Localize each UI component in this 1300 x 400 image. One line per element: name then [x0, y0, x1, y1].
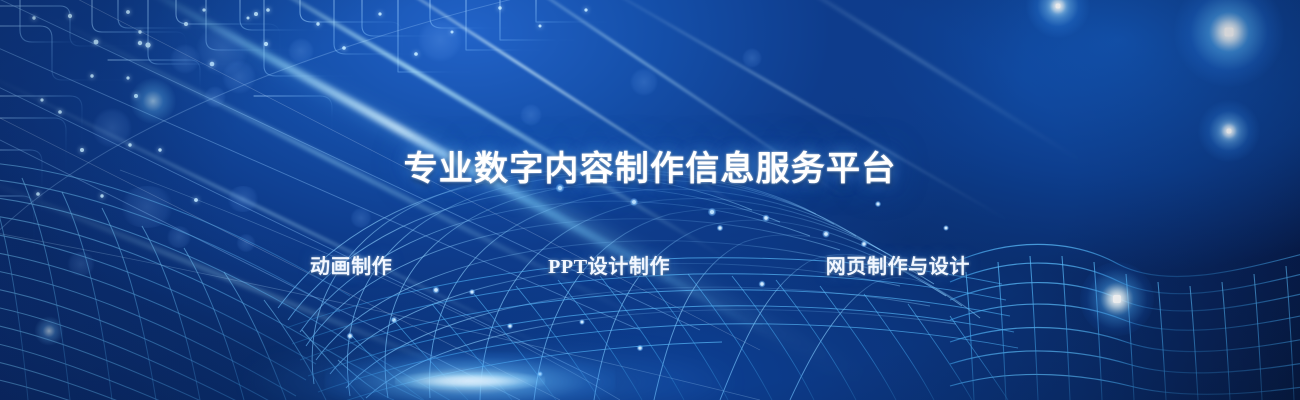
service-item-animation[interactable]: 动画制作	[310, 250, 392, 279]
service-item-webdesign[interactable]: 网页制作与设计	[826, 250, 970, 279]
service-list: 动画制作 PPT设计制作 网页制作与设计	[310, 250, 970, 279]
page-title: 专业数字内容制作信息服务平台	[0, 141, 1300, 190]
hero-banner: 专业数字内容制作信息服务平台 动画制作 PPT设计制作 网页制作与设计	[0, 0, 1300, 400]
service-item-ppt[interactable]: PPT设计制作	[548, 250, 670, 279]
vignette-overlay	[0, 0, 1300, 400]
